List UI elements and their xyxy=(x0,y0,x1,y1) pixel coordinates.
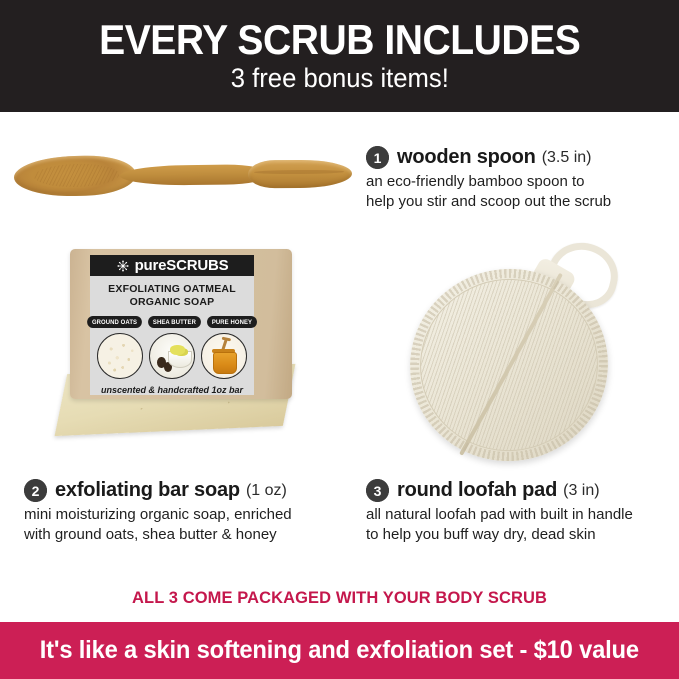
ingredient-pill: GROUND OATS xyxy=(87,316,142,328)
soap-label: pureSCRUBS EXFOLIATING OATMEAL ORGANIC S… xyxy=(90,255,254,395)
item-1-text-block: 1 wooden spoon (3.5 in) an eco-friendly … xyxy=(366,146,666,212)
item-2-title: 2 exfoliating bar soap (1 oz) xyxy=(24,479,354,502)
item-1-number-badge: 1 xyxy=(366,146,389,169)
item-2-text-block: 2 exfoliating bar soap (1 oz) mini moist… xyxy=(24,479,354,545)
item-3-desc-line-1: all natural loofah pad with built in han… xyxy=(366,505,666,525)
item-3-qty-label: (3 in) xyxy=(563,482,599,500)
pure-honey-photo xyxy=(201,333,247,379)
mandala-ornament-icon xyxy=(116,259,130,273)
spoon-handle-icon xyxy=(248,160,352,189)
item-3-text-block: 3 round loofah pad (3 in) all natural lo… xyxy=(366,479,666,545)
page-subtitle: 3 free bonus items! xyxy=(230,64,448,92)
ingredient-pill: SHEA BUTTER xyxy=(148,316,201,328)
soap-product-line-2: ORGANIC SOAP xyxy=(130,296,215,308)
soap-brand-name: pureSCRUBS xyxy=(135,257,229,274)
soap-tagline: unscented & handcrafted 1oz bar xyxy=(90,385,254,395)
item-3-title: 3 round loofah pad (3 in) xyxy=(366,479,666,502)
item-3-title-label: round loofah pad xyxy=(397,479,557,502)
bar-soap-image: pureSCRUBS EXFOLIATING OATMEAL ORGANIC S… xyxy=(56,245,306,457)
item-2-title-label: exfoliating bar soap xyxy=(55,479,240,502)
page-title: EVERY SCRUB INCLUDES xyxy=(99,19,580,62)
soap-brand-bar: pureSCRUBS xyxy=(90,255,254,276)
item-1-qty-label: (3.5 in) xyxy=(542,149,592,167)
item-1-title: 1 wooden spoon (3.5 in) xyxy=(366,146,666,169)
item-1-desc-line-1: an eco-friendly bamboo spoon to xyxy=(366,172,666,192)
honey-jar-icon xyxy=(213,352,237,374)
item-2-qty-label: (1 oz) xyxy=(246,482,287,500)
spoon-bowl-icon xyxy=(13,154,136,197)
item-1-title-label: wooden spoon xyxy=(397,146,536,169)
loofah-pad-image xyxy=(406,243,646,468)
footer-tagline: ALL 3 COME PACKAGED WITH YOUR BODY SCRUB xyxy=(10,588,669,608)
soap-carton: pureSCRUBS EXFOLIATING OATMEAL ORGANIC S… xyxy=(70,249,292,399)
item-3-number-badge: 3 xyxy=(366,479,389,502)
header-banner: EVERY SCRUB INCLUDES 3 free bonus items! xyxy=(0,0,679,112)
ingredient-pill-row: GROUND OATS SHEA BUTTER PURE HONEY xyxy=(90,316,254,328)
item-1-desc-line-2: help you stir and scoop out the scrub xyxy=(366,192,666,212)
ground-oats-photo xyxy=(97,333,143,379)
shea-butter-photo xyxy=(149,333,195,379)
ingredient-pill: PURE HONEY xyxy=(207,316,257,328)
item-2-number-badge: 2 xyxy=(24,479,47,502)
item-2-desc-line-1: mini moisturizing organic soap, enriched xyxy=(24,505,354,525)
shea-butter-icon xyxy=(170,345,185,355)
wooden-spoon-image xyxy=(12,144,352,206)
item-2-desc-line-2: with ground oats, shea butter & honey xyxy=(24,525,354,545)
footer-banner-label: It's like a skin softening and exfoliati… xyxy=(40,636,639,665)
footer-value-banner: It's like a skin softening and exfoliati… xyxy=(0,622,679,679)
soap-product-line-1: EXFOLIATING OATMEAL xyxy=(108,283,236,295)
item-3-desc-line-2: to help you buff way dry, dead skin xyxy=(366,525,666,545)
ingredient-photo-row xyxy=(90,333,254,379)
soap-product-name: EXFOLIATING OATMEAL ORGANIC SOAP xyxy=(90,283,254,309)
